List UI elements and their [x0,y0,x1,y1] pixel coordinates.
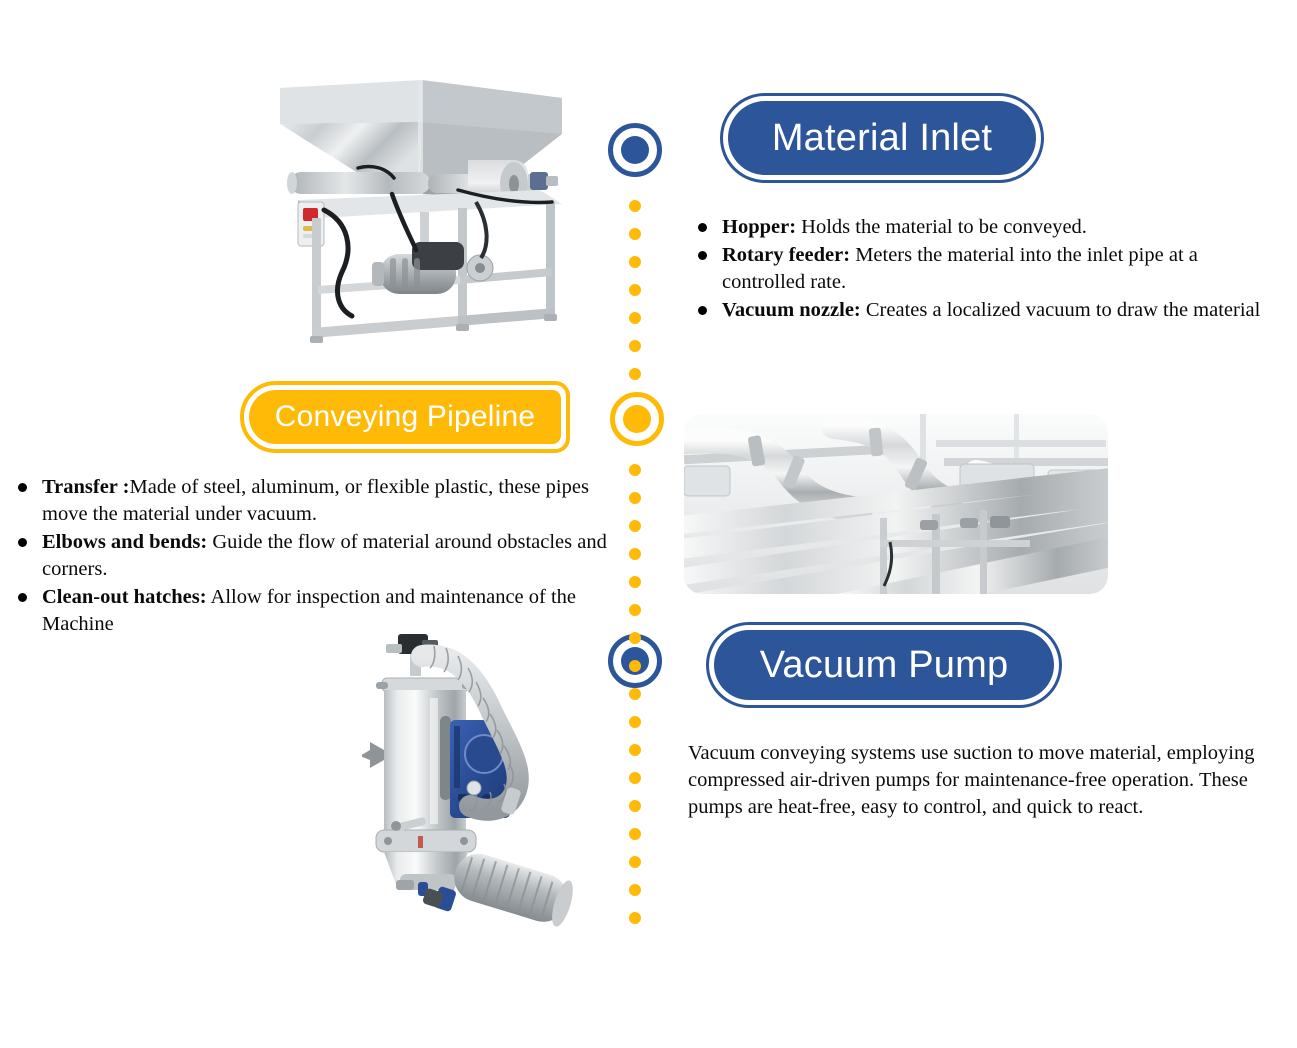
rail-dot [629,716,641,728]
rail-dot [629,368,641,380]
stainless-steel-pipework-photo [684,414,1108,594]
badge-conveying-pipeline[interactable]: Conveying Pipeline [240,381,570,453]
badge-vacuum-pump[interactable]: Vacuum Pump [706,622,1062,708]
rail-dot [629,884,641,896]
dotted-timeline-rail-upper [629,200,641,388]
hopper-rotary-feeder-machine-photo [262,72,578,360]
rail-dot [629,912,641,924]
rail-dot [629,256,641,268]
vacuum-conveyor-pump-photo [362,612,588,930]
badge-material-inlet[interactable]: Material Inlet [720,93,1044,183]
rail-dot [629,520,641,532]
bullet-lead: Vacuum nozzle: [722,299,861,321]
rail-dot [629,464,641,476]
rail-dot [629,492,641,504]
rail-dot [629,576,641,588]
paragraph-vacuum-pump: Vacuum conveying systems use suction to … [688,740,1288,821]
node-core [621,136,649,164]
list-item: Vacuum nozzle: Creates a localized vacuu… [694,297,1284,324]
badge-conveying-pipeline-label: Conveying Pipeline [249,390,561,444]
timeline-node-material-inlet[interactable] [608,123,662,177]
infographic-canvas: Material Inlet Hopper: Holds the materia… [0,0,1297,1048]
rail-dot [629,772,641,784]
rail-dot [629,284,641,296]
bullet-text: Holds the material to be conveyed. [796,216,1087,238]
paragraph-text: Vacuum conveying systems use suction to … [688,740,1288,821]
list-item: Rotary feeder: Meters the material into … [694,242,1284,296]
badge-material-inlet-label: Material Inlet [728,101,1036,175]
list-item: Hopper: Holds the material to be conveye… [694,214,1284,241]
badge-vacuum-pump-label: Vacuum Pump [714,630,1054,700]
rail-dot [629,228,641,240]
bullet-text: Creates a localized vacuum to draw the m… [861,299,1261,321]
bullet-lead: Elbows and bends: [42,531,207,553]
rail-dot [629,856,641,868]
node-core [623,405,651,433]
rail-dot [629,800,641,812]
rail-dot [629,200,641,212]
list-item: Elbows and bends: Guide the flow of mate… [14,529,614,583]
dotted-timeline-rail-lower [629,464,641,924]
bullet-lead: Clean-out hatches: [42,586,207,608]
list-item: Transfer :Made of steel, aluminum, or fl… [14,474,614,528]
bullet-lead: Rotary feeder: [722,244,850,266]
timeline-node-conveying-pipeline[interactable] [610,392,664,446]
rail-dot [629,340,641,352]
rail-dot [629,604,641,616]
rail-dot [629,828,641,840]
bullet-lead: Transfer : [42,476,130,498]
rail-dot [629,744,641,756]
rail-dot [629,688,641,700]
rail-dot [629,660,641,672]
bullet-list-material-inlet: Hopper: Holds the material to be conveye… [694,214,1284,325]
rail-dot [629,632,641,644]
bullet-lead: Hopper: [722,216,796,238]
rail-dot [629,548,641,560]
rail-dot [629,312,641,324]
